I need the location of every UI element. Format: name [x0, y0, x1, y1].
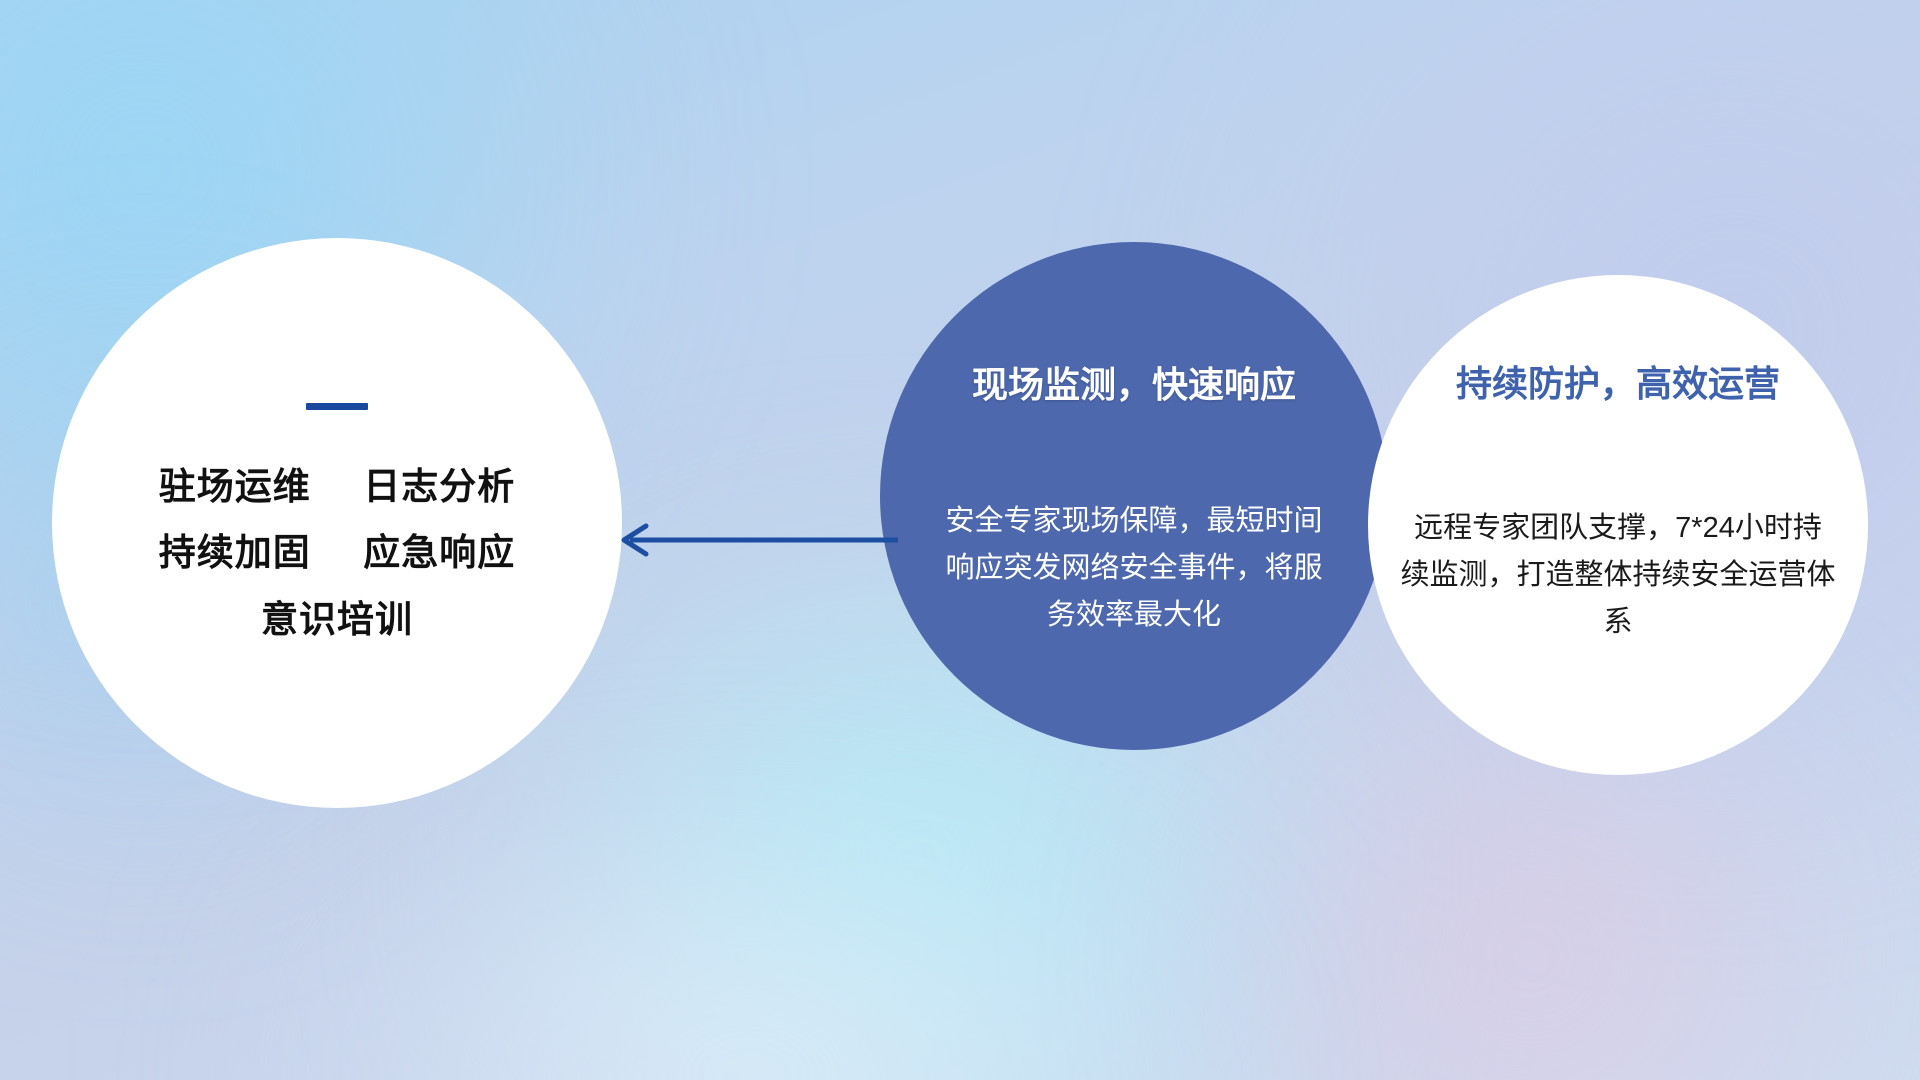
list-item: 意识培训 [261, 597, 413, 643]
divider-dash-icon [306, 403, 368, 410]
mid-circle-title: 现场监测，快速响应 [880, 356, 1388, 408]
tag-label-1: 驻场运维 [159, 466, 311, 507]
left-circle-text-block: 驻场运维 日志分析 持续加固 应急响应 意识培训 [159, 464, 516, 643]
tag-label-5: 意识培训 [261, 599, 413, 640]
slide-canvas: 驻场运维 日志分析 持续加固 应急响应 意识培训 现场监测，快速响应 安全专家现… [0, 0, 1920, 1080]
left-circle[interactable]: 驻场运维 日志分析 持续加固 应急响应 意识培训 [52, 238, 622, 808]
arrow-left-icon [610, 520, 900, 560]
right-circle-body: 远程专家团队支撑，7*24小时持续监测，打造整体持续安全运营体系 [1368, 505, 1868, 646]
tag-label-3: 持续加固 [159, 532, 311, 573]
tag-label-4: 应急响应 [363, 532, 515, 573]
right-circle-title: 持续防护，高效运营 [1368, 355, 1868, 407]
list-item: 驻场运维 日志分析 [159, 464, 516, 510]
tag-label-2: 日志分析 [363, 466, 515, 507]
list-item: 持续加固 应急响应 [159, 530, 516, 576]
mid-circle-body: 安全专家现场保障，最短时间响应突发网络安全事件，将服务效率最大化 [880, 498, 1388, 639]
mid-circle[interactable] [880, 242, 1388, 750]
